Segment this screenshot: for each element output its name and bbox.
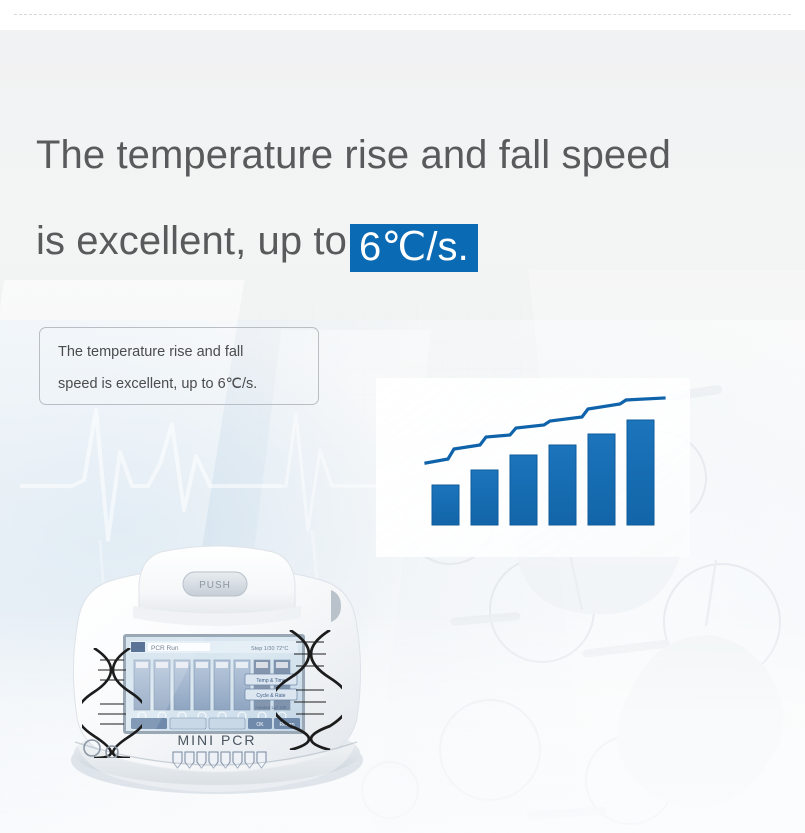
dashed-divider [14, 14, 791, 15]
highlight-badge: 6℃/s. [350, 224, 478, 272]
caption-box: The temperature rise and fall speed is e… [39, 327, 319, 405]
caption-line-2: speed is excellent, up to 6℃/s. [58, 368, 302, 400]
caption-line-1: The temperature rise and fall [58, 336, 302, 368]
dna-helix-left-icon [82, 648, 142, 758]
headline-line-1: The temperature rise and fall speed [36, 112, 766, 198]
top-strip [0, 0, 805, 30]
bar-chart [376, 378, 690, 557]
brand-label: MINI PCR [178, 732, 257, 748]
dna-helix-right-icon [276, 630, 342, 750]
headline-line-2-text: is excellent, up to [36, 219, 347, 263]
svg-text:OK: OK [256, 722, 264, 728]
promo-banner: The temperature rise and fall speed is e… [0, 0, 805, 833]
page-title: The temperature rise and fall speed is e… [36, 112, 766, 284]
growth-chart-panel [376, 378, 690, 557]
push-button-label: PUSH [199, 580, 231, 591]
headline-line-2: is excellent, up to6℃/s. [36, 198, 766, 284]
